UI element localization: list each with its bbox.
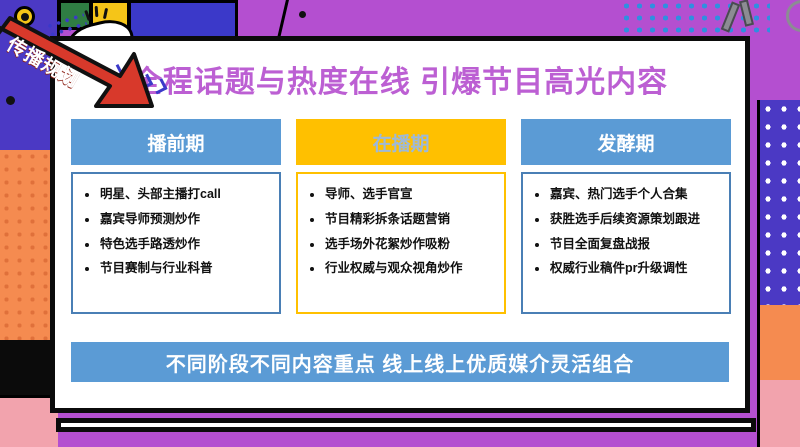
column-header-pre-broadcast[interactable]: 播前期 — [71, 119, 281, 165]
list-item: 节目赛制与行业科普 — [79, 262, 273, 276]
decor-right-pink-block — [757, 380, 800, 447]
list-item: 导师、选手官宣 — [304, 188, 498, 202]
bullet-icon — [535, 243, 539, 247]
list-item-label: 权威行业稿件pr升级调性 — [550, 262, 688, 276]
decor-dot — [299, 11, 306, 18]
bullet-icon — [535, 218, 539, 222]
stage-columns: 播前期 明星、头部主播打call 嘉宾导师预测炒作 特色选手路透炒作 节目赛制与… — [71, 119, 731, 314]
list-item: 嘉宾、热门选手个人合集 — [529, 188, 723, 202]
bullet-icon — [85, 267, 89, 271]
column-body-pre-broadcast: 明星、头部主播打call 嘉宾导师预测炒作 特色选手路透炒作 节目赛制与行业科普 — [71, 172, 281, 314]
column-header-on-air[interactable]: 在播期 — [296, 119, 506, 165]
slide-canvas: 传播规划 全程话题与热度在线 引爆节目高光内容 播前期 明星、头部主播打call… — [0, 0, 800, 447]
item-list: 导师、选手官宣 节目精彩拆条话题营销 选手场外花絮炒作吸粉 行业权威与观众视角炒… — [304, 188, 498, 276]
bullet-icon — [535, 193, 539, 197]
bullet-icon — [85, 193, 89, 197]
list-item: 行业权威与观众视角炒作 — [304, 262, 498, 276]
column-pre-broadcast: 播前期 明星、头部主播打call 嘉宾导师预测炒作 特色选手路透炒作 节目赛制与… — [71, 119, 281, 314]
list-item-label: 节目精彩拆条话题营销 — [325, 213, 450, 227]
list-item-label: 选手场外花絮炒作吸粉 — [325, 238, 450, 252]
list-item-label: 导师、选手官宣 — [325, 188, 413, 202]
list-item: 明星、头部主播打call — [79, 188, 273, 202]
bullet-icon — [310, 218, 314, 222]
item-list: 嘉宾、热门选手个人合集 获胜选手后续资源策划跟进 节目全面复盘战报 权威行业稿件… — [529, 188, 723, 276]
card-bottom-strip — [56, 418, 756, 432]
column-on-air: 在播期 导师、选手官宣 节目精彩拆条话题营销 选手场外花絮炒作吸粉 行业权威与观… — [296, 119, 506, 314]
list-item-label: 嘉宾导师预测炒作 — [100, 213, 200, 227]
list-item-label: 行业权威与观众视角炒作 — [325, 262, 463, 276]
list-item-label: 嘉宾、热门选手个人合集 — [550, 188, 688, 202]
list-item: 获胜选手后续资源策划跟进 — [529, 213, 723, 227]
column-body-post-broadcast: 嘉宾、热门选手个人合集 获胜选手后续资源策划跟进 节目全面复盘战报 权威行业稿件… — [521, 172, 731, 314]
list-item-label: 获胜选手后续资源策划跟进 — [550, 213, 700, 227]
list-item: 嘉宾导师预测炒作 — [79, 213, 273, 227]
bullet-icon — [310, 193, 314, 197]
column-body-on-air: 导师、选手官宣 节目精彩拆条话题营销 选手场外花絮炒作吸粉 行业权威与观众视角炒… — [296, 172, 506, 314]
decor-right-orange-block — [757, 305, 800, 380]
list-item-label: 节目全面复盘战报 — [550, 238, 650, 252]
item-list: 明星、头部主播打call 嘉宾导师预测炒作 特色选手路透炒作 节目赛制与行业科普 — [79, 188, 273, 276]
summary-banner: 不同阶段不同内容重点 线上线上优质媒介灵活组合 — [71, 342, 729, 382]
bullet-icon — [535, 267, 539, 271]
list-item: 选手场外花絮炒作吸粉 — [304, 238, 498, 252]
bullet-icon — [85, 218, 89, 222]
list-item: 权威行业稿件pr升级调性 — [529, 262, 723, 276]
column-post-broadcast: 发酵期 嘉宾、热门选手个人合集 获胜选手后续资源策划跟进 节目全面复盘战报 权威… — [521, 119, 731, 314]
list-item-label: 节目赛制与行业科普 — [100, 262, 213, 276]
bullet-icon — [310, 267, 314, 271]
list-item: 节目精彩拆条话题营销 — [304, 213, 498, 227]
list-item-label: 特色选手路透炒作 — [100, 238, 200, 252]
list-item: 特色选手路透炒作 — [79, 238, 273, 252]
list-item-label: 明星、头部主播打call — [100, 188, 221, 202]
column-header-post-broadcast[interactable]: 发酵期 — [521, 119, 731, 165]
bullet-icon — [310, 243, 314, 247]
bullet-icon — [85, 243, 89, 247]
decor-right-blue-block — [757, 100, 800, 305]
list-item: 节目全面复盘战报 — [529, 238, 723, 252]
